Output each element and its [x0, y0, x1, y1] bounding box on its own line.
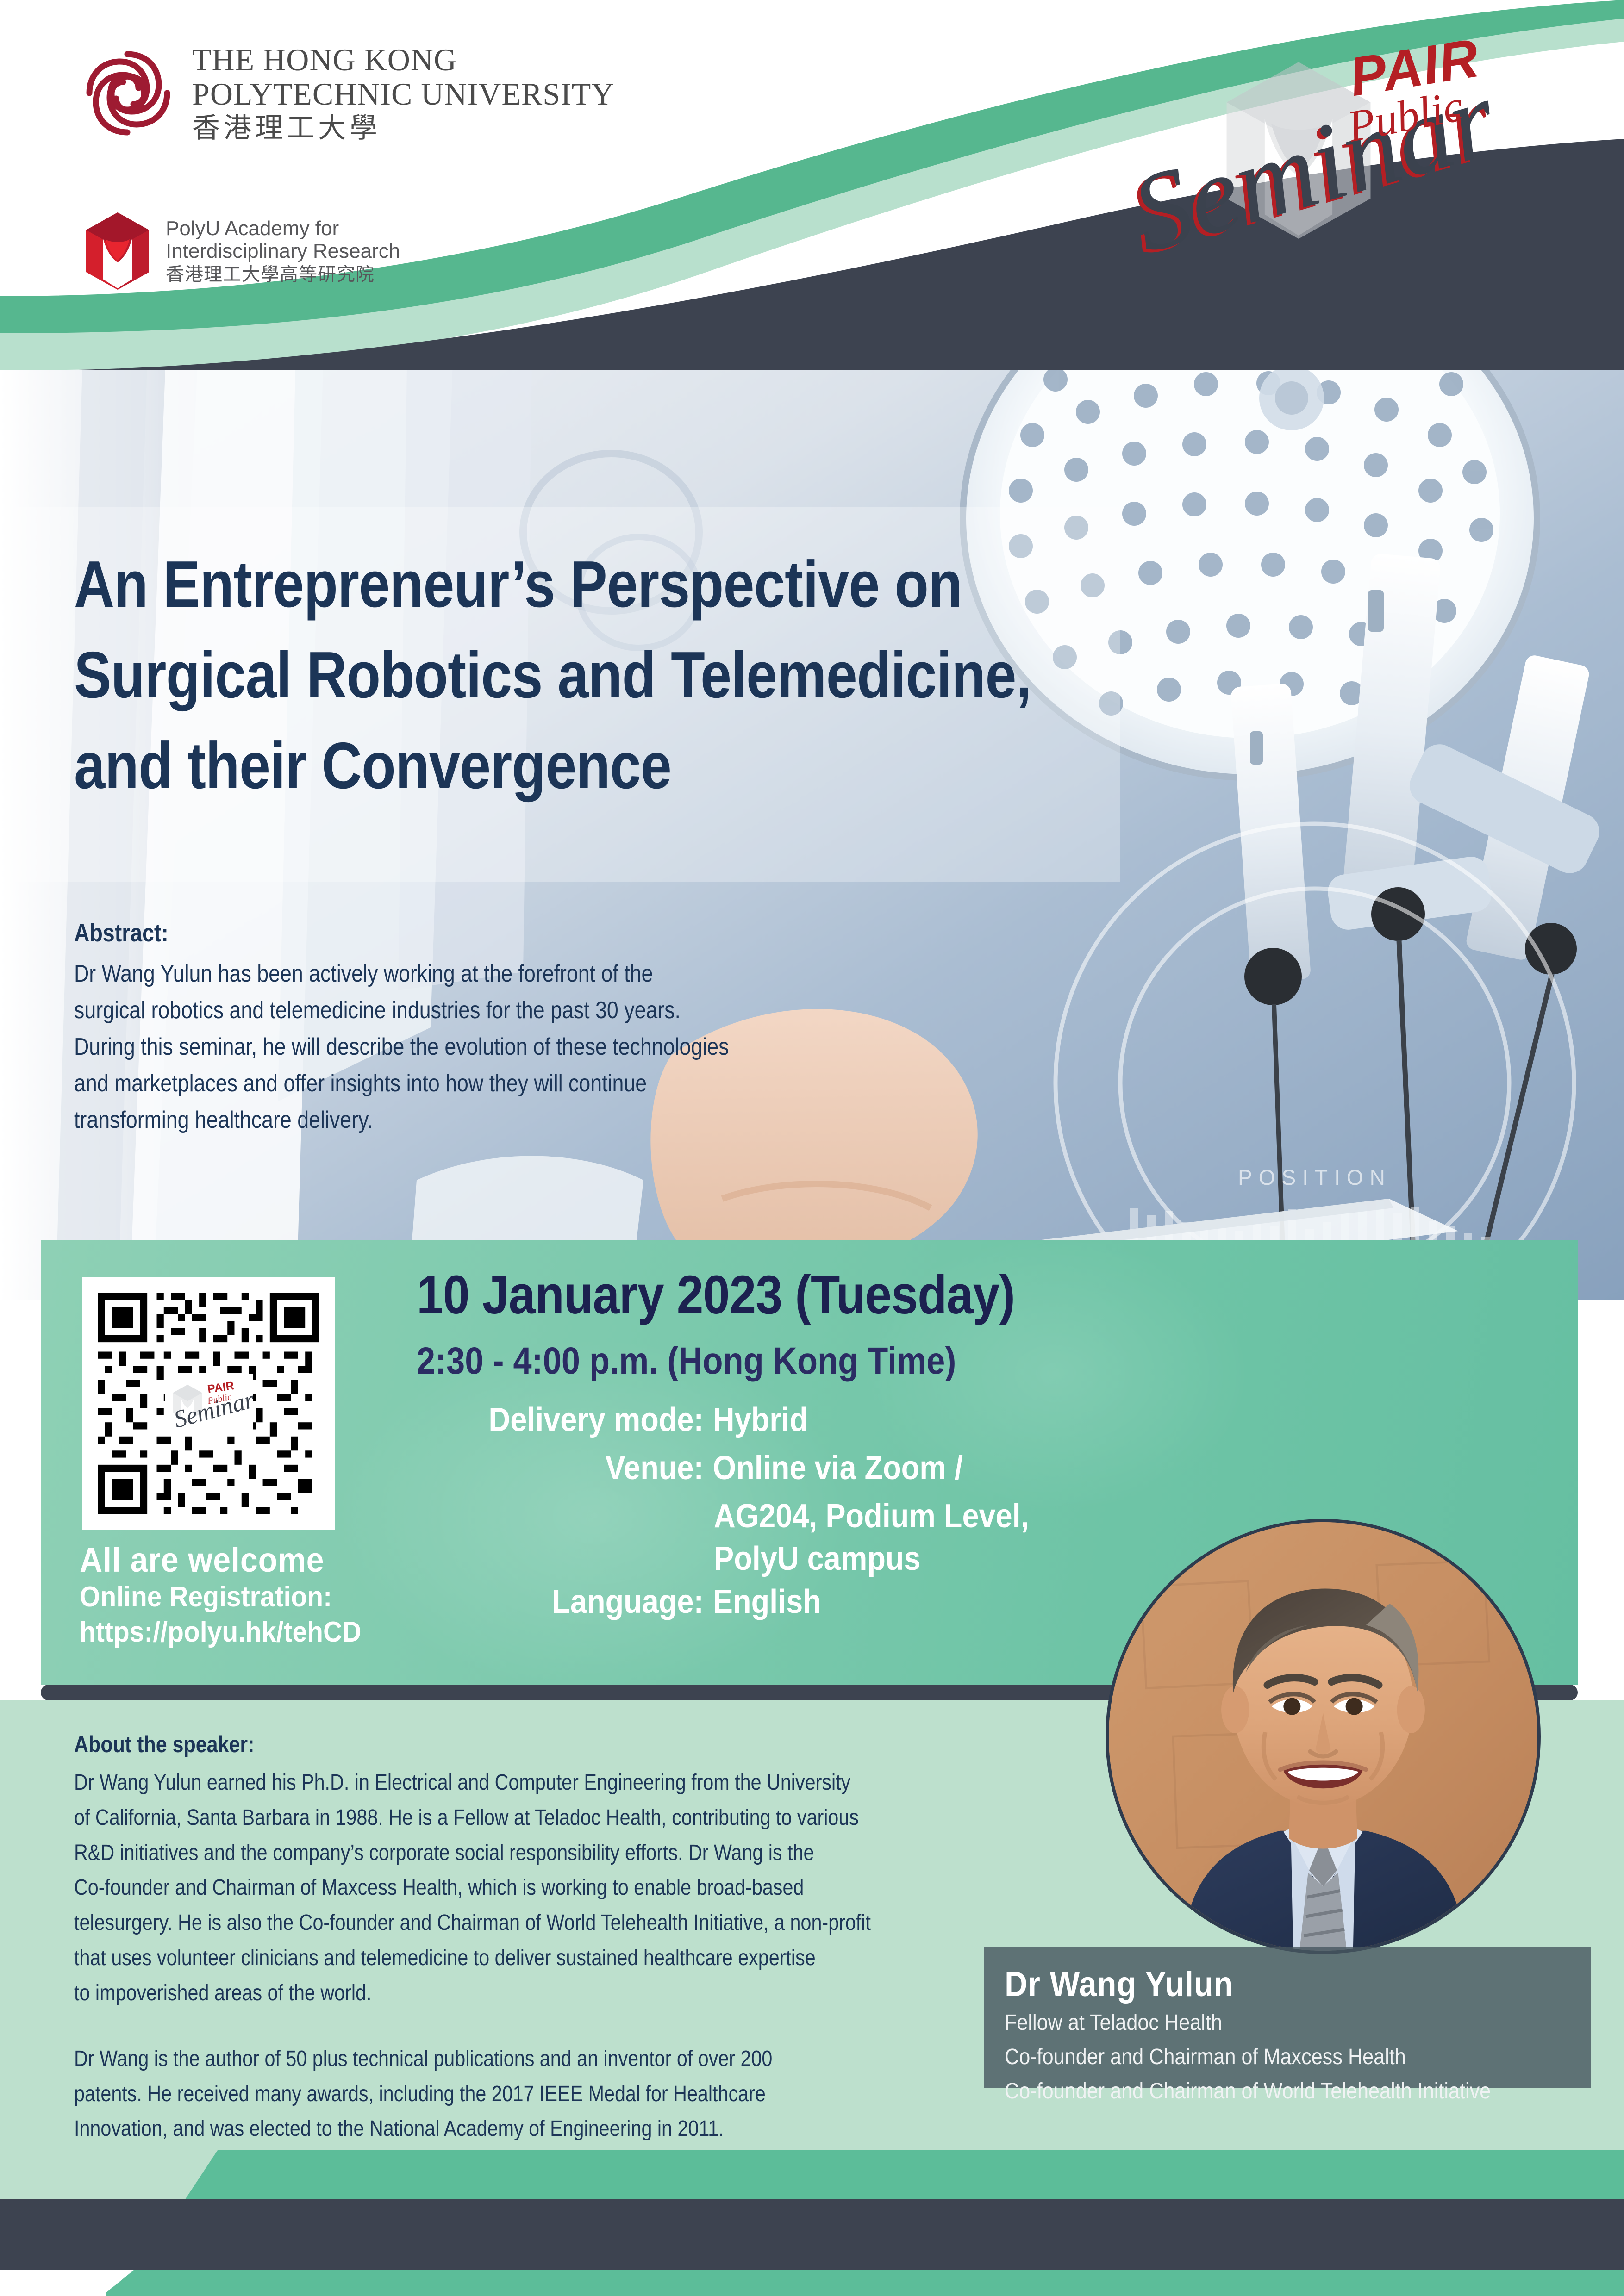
pair-academy-logo: PolyU Academy for Interdisciplinary Rese…	[83, 211, 400, 292]
title-line-2: Surgical Robotics and Telemedicine,	[74, 630, 979, 721]
delivery-mode-row: Delivery mode: Hybrid	[417, 1399, 1111, 1441]
pair-public-seminar-logo: Seminar Seminar PAIR Public	[1102, 9, 1620, 231]
bio-line: Co-founder and Chairman of Maxcess Healt…	[74, 1870, 918, 1905]
speaker-portrait	[1106, 1519, 1541, 1954]
polyu-logo: THE HONG KONG POLYTECHNIC UNIVERSITY 香港理…	[81, 44, 614, 142]
bio-line: Dr Wang is the author of 50 plus technic…	[74, 2041, 918, 2077]
seminar-poster: POSITION An Entrepreneur’s Perspective o…	[0, 0, 1624, 2296]
event-info: 10 January 2023 (Tuesday) 2:30 - 4:00 p.…	[417, 1263, 1111, 1629]
bio-line: to impoverished areas of the world.	[74, 1976, 918, 2011]
abstract-line: During this seminar, he will describe th…	[74, 1029, 791, 1065]
venue-value-line1: Online via Zoom /	[704, 1447, 963, 1489]
registration-qr-code[interactable]: Seminar PAIR Public	[82, 1277, 335, 1530]
academy-name-line1: PolyU Academy for	[166, 217, 400, 240]
event-date: 10 January 2023 (Tuesday)	[417, 1263, 1028, 1326]
university-name-line1: THE HONG KONG	[192, 44, 614, 75]
registration-block: All are welcome Online Registration: htt…	[80, 1540, 431, 1650]
language-row: Language: English	[417, 1580, 1111, 1623]
polyu-knot-icon	[81, 46, 174, 141]
abstract-line: and marketplaces and offer insights into…	[74, 1065, 791, 1102]
abstract-line: Dr Wang Yulun has been actively working …	[74, 956, 791, 992]
abstract-label: Abstract:	[74, 919, 791, 947]
bio-line: telesurgery. He is also the Co-founder a…	[74, 1905, 918, 1941]
speaker-role: Co-founder and Chairman of World Telehea…	[1005, 2076, 1514, 2107]
event-time: 2:30 - 4:00 p.m. (Hong Kong Time)	[417, 1339, 1028, 1383]
bio-line: that uses volunteer clinicians and telem…	[74, 1941, 918, 1976]
venue-value-line2: AG204, Podium Level,	[714, 1495, 1071, 1537]
university-name-line2: POLYTECHNIC UNIVERSITY	[192, 78, 614, 110]
all-are-welcome-text: All are welcome	[80, 1540, 403, 1580]
bio-line: R&D initiatives and the company’s corpor…	[74, 1836, 918, 1871]
title-line-3: and their Convergence	[74, 721, 979, 811]
registration-url[interactable]: https://polyu.hk/tehCD	[80, 1615, 403, 1650]
bio-line: patents. He received many awards, includ…	[74, 2077, 918, 2112]
bio-line: Innovation, and was elected to the Natio…	[74, 2111, 918, 2147]
bio-line: of California, Santa Barbara in 1988. He…	[74, 1800, 918, 1836]
academy-name-line2: Interdisciplinary Research	[166, 240, 400, 262]
speaker-role: Co-founder and Chairman of Maxcess Healt…	[1005, 2041, 1514, 2073]
delivery-mode-label: Delivery mode:	[445, 1399, 704, 1441]
language-value: English	[704, 1580, 821, 1623]
hud-position-label: POSITION	[1238, 1165, 1392, 1189]
venue-row: Venue: Online via Zoom /	[417, 1447, 1111, 1489]
speaker-role: Fellow at Teladoc Health	[1005, 2007, 1514, 2039]
academy-name-chinese: 香港理工大學高等研究院	[166, 264, 400, 285]
abstract-line: transforming healthcare delivery.	[74, 1102, 791, 1139]
bio-line: Dr Wang Yulun earned his Ph.D. in Electr…	[74, 1765, 918, 1800]
speaker-name: Dr Wang Yulun	[1005, 1964, 1514, 2004]
qr-center-logo: Seminar PAIR Public	[165, 1374, 253, 1434]
footer: PAIR website	[0, 2129, 1624, 2296]
footer-shapes	[0, 2129, 1624, 2296]
speaker-bio: About the speaker: Dr Wang Yulun earned …	[74, 1731, 1056, 2147]
about-speaker-label: About the speaker:	[74, 1731, 918, 1758]
speaker-name-plate: Dr Wang Yulun Fellow at Teladoc Health C…	[984, 1947, 1591, 2088]
venue-value-line3: PolyU campus	[714, 1537, 1071, 1580]
delivery-mode-value: Hybrid	[704, 1399, 808, 1441]
venue-label: Venue:	[445, 1447, 704, 1489]
pair-cube-icon	[83, 211, 152, 292]
title-line-1: An Entrepreneur’s Perspective on	[74, 539, 979, 630]
online-registration-label: Online Registration:	[80, 1580, 403, 1615]
speaker-photo-illustration	[1109, 1522, 1537, 1951]
abstract-section: Abstract: Dr Wang Yulun has been activel…	[74, 919, 907, 1139]
university-name-chinese: 香港理工大學	[192, 114, 614, 142]
page-title: An Entrepreneur’s Perspective on Surgica…	[74, 539, 1139, 811]
language-label: Language:	[445, 1580, 704, 1623]
abstract-line: surgical robotics and telemedicine indus…	[74, 992, 791, 1029]
